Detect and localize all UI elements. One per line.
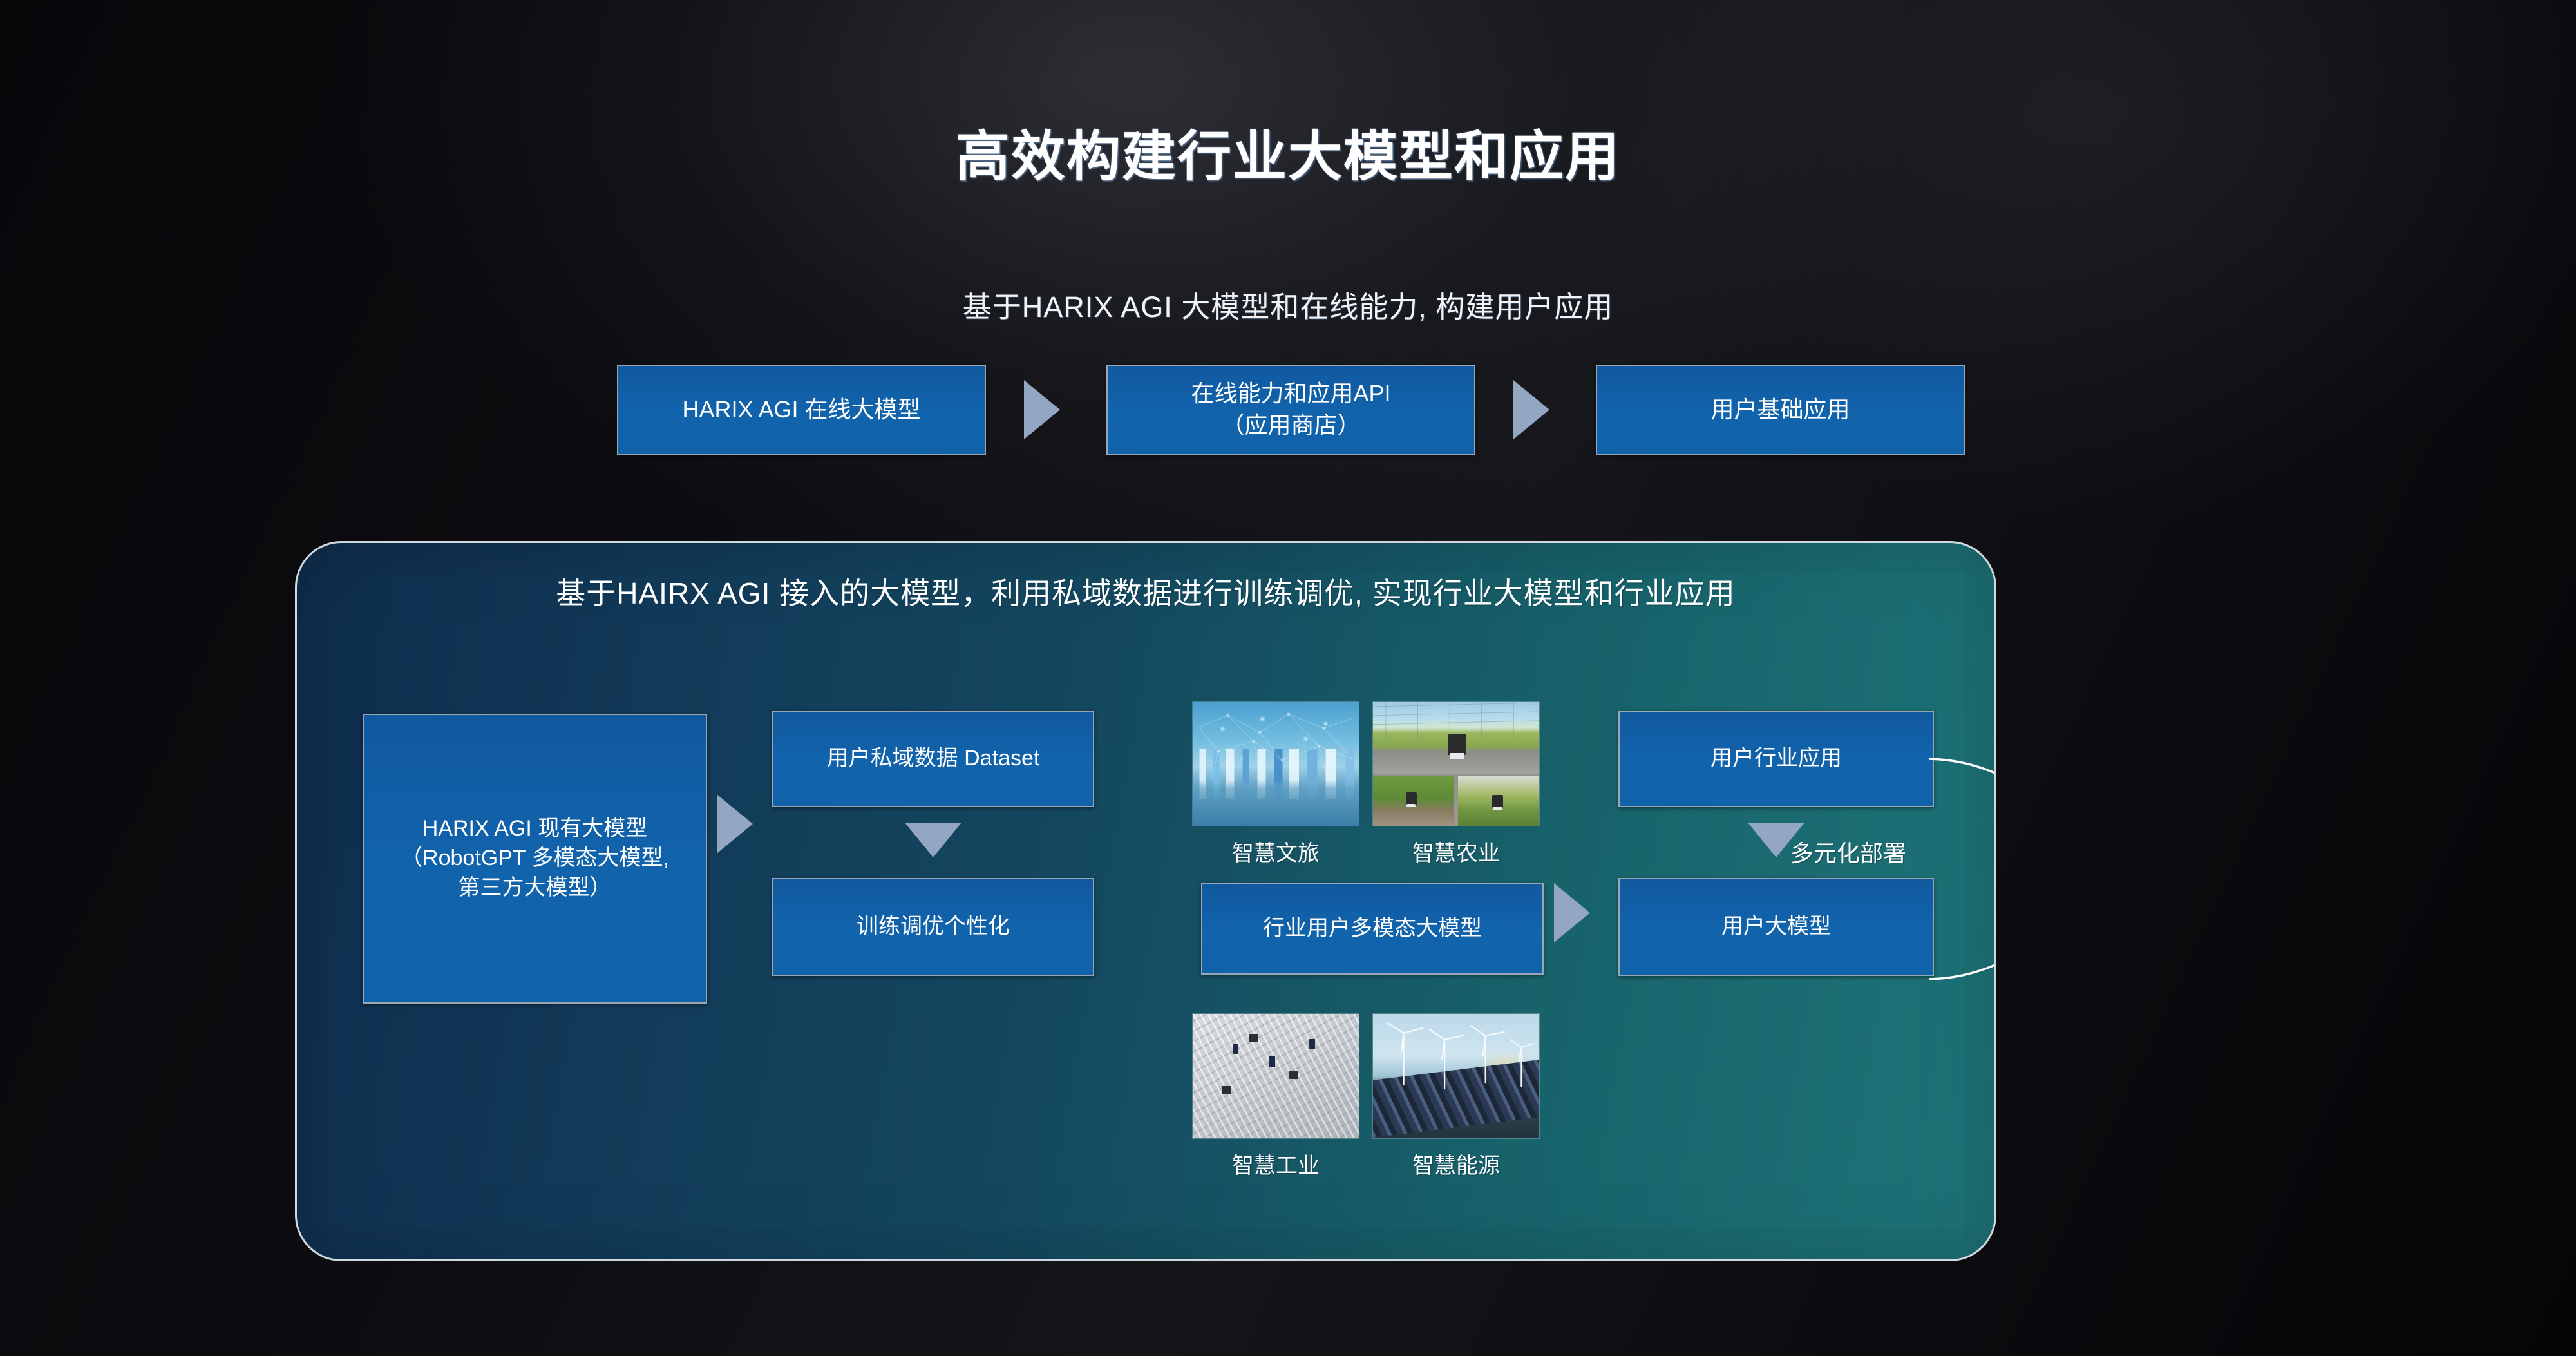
flow-box-label: HARIX AGI 在线大模型: [682, 394, 920, 426]
triangle-right-icon-3: [717, 794, 753, 854]
flow-box-private-dataset[interactable]: 用户私域数据 Dataset: [772, 711, 1094, 807]
deploy-label: 多元化部署: [1739, 835, 1958, 868]
flow-box-harix-online-model[interactable]: HARIX AGI 在线大模型: [617, 365, 986, 455]
thumbnail-caption: 智慧文旅: [1192, 836, 1359, 867]
flow-box-label-line1: 在线能力和应用API: [1191, 378, 1390, 410]
user-large-model-label: 用户大模型: [1721, 912, 1831, 942]
smart-agriculture-thumbnail: [1372, 701, 1540, 826]
flow-box-label-line2: （应用商店）: [1221, 410, 1360, 441]
thumbnail-smart-agriculture[interactable]: 智慧农业: [1372, 701, 1540, 867]
thumbnail-smart-industry[interactable]: 智慧工业: [1192, 1013, 1359, 1179]
thumbnail-caption: 智慧工业: [1192, 1148, 1359, 1179]
flow-box-user-large-model[interactable]: 用户大模型: [1618, 878, 1934, 976]
user-industry-app-label: 用户行业应用: [1710, 744, 1842, 774]
triangle-right-icon-4: [1554, 883, 1590, 942]
triangle-down-icon-1: [905, 823, 961, 857]
industry-model-label: 行业用户多模态大模型: [1263, 914, 1482, 944]
flow-box-harix-existing-model[interactable]: HARIX AGI 现有大模型 （RobotGPT 多模态大模型, 第三方大模型…: [363, 714, 707, 1004]
existing-model-line1: HARIX AGI 现有大模型: [422, 814, 648, 844]
flow-box-industry-multimodal-model[interactable]: 行业用户多模态大模型: [1201, 883, 1544, 975]
curved-arrow-icon-top: [1929, 759, 1996, 827]
curved-arrow-group: [1920, 701, 1996, 1036]
thumbnail-caption: 智慧农业: [1372, 836, 1540, 867]
existing-model-line2: （RobotGPT 多模态大模型,: [401, 844, 669, 874]
slide-canvas: 高效构建行业大模型和应用 基于HARIX AGI 大模型和在线能力, 构建用户应…: [0, 0, 2576, 1356]
thumbnail-smart-energy[interactable]: 智慧能源: [1372, 1013, 1540, 1179]
network-lines-icon: [1193, 702, 1359, 826]
smart-industry-thumbnail: [1192, 1013, 1359, 1139]
page-title: 高效构建行业大模型和应用: [0, 113, 2576, 191]
smart-city-thumbnail: [1192, 701, 1359, 826]
flow-box-user-industry-app[interactable]: 用户行业应用: [1618, 711, 1934, 807]
existing-model-line3: 第三方大模型）: [459, 874, 612, 903]
dataset-label: 用户私域数据 Dataset: [827, 744, 1040, 774]
flow-box-user-basic-app[interactable]: 用户基础应用: [1596, 365, 1965, 455]
flow-box-online-api[interactable]: 在线能力和应用API （应用商店）: [1106, 365, 1475, 455]
thumbnail-caption: 智慧能源: [1372, 1148, 1540, 1179]
flow-box-label: 用户基础应用: [1710, 394, 1850, 426]
wind-turbines-icon: [1373, 1014, 1539, 1139]
greenhouse-frame-icon: [1373, 702, 1539, 826]
panel-title: 基于HAIRX AGI 接入的大模型，利用私域数据进行训练调优, 实现行业大模型…: [297, 570, 1994, 613]
curved-arrow-icon-bottom: [1929, 911, 1996, 979]
flow-box-training-tuning[interactable]: 训练调优个性化: [772, 878, 1094, 976]
industry-model-panel: 基于HAIRX AGI 接入的大模型，利用私域数据进行训练调优, 实现行业大模型…: [295, 541, 1996, 1261]
subtitle: 基于HARIX AGI 大模型和在线能力, 构建用户应用: [0, 283, 2576, 325]
triangle-right-icon-1: [1024, 380, 1060, 439]
thumbnail-smart-city[interactable]: 智慧文旅: [1192, 701, 1359, 867]
triangle-right-icon-2: [1513, 380, 1549, 439]
training-label: 训练调优个性化: [857, 912, 1010, 942]
smart-energy-thumbnail: [1372, 1013, 1540, 1139]
